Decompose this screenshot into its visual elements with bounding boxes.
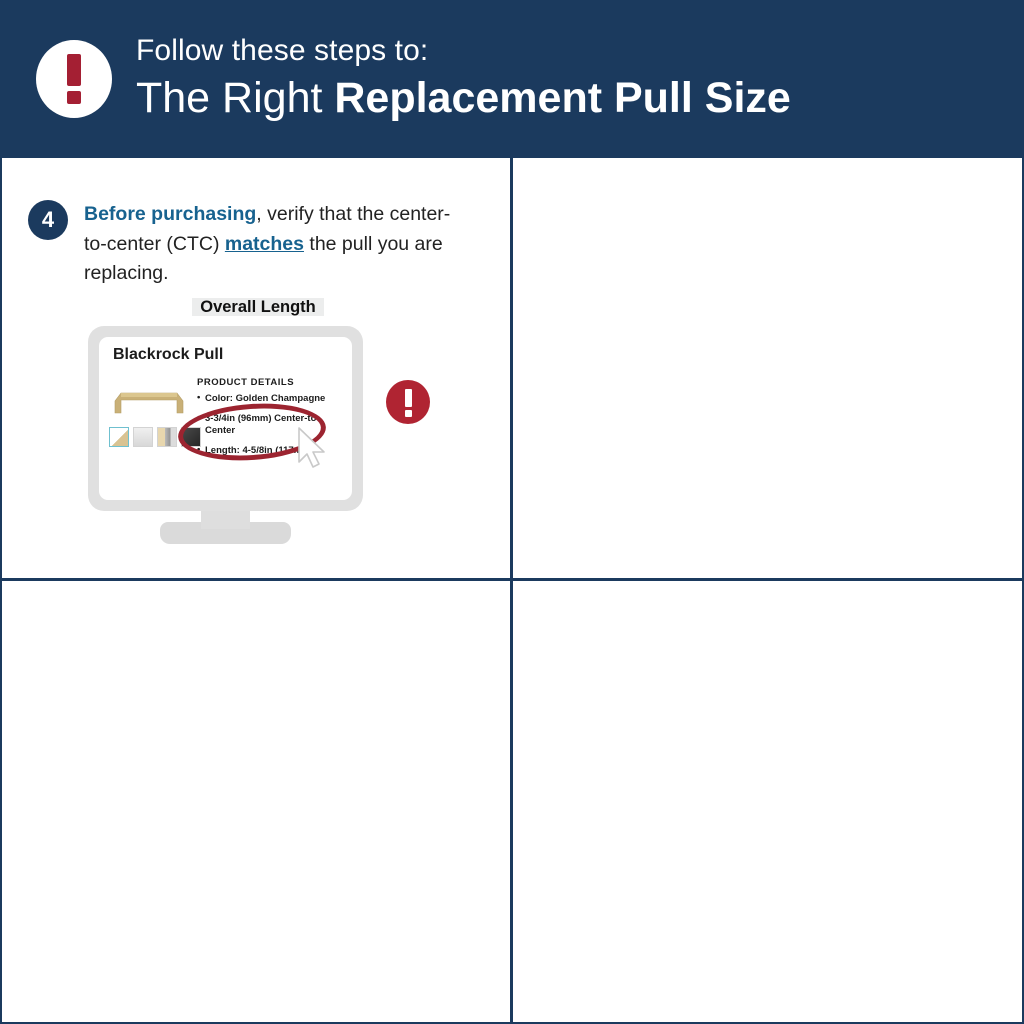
monitor-neck: [201, 509, 250, 529]
overall-length-label: Overall Length: [48, 298, 468, 317]
exclamation-icon: [36, 40, 112, 118]
step-panel-4: 4 Before purchasing, verify that the cen…: [0, 158, 512, 602]
product-title: Blackrock Pull: [113, 346, 223, 364]
thumbnail-3[interactable]: [157, 427, 177, 447]
steps-grid: 1 First, it’s important to understand ce…: [0, 158, 1024, 1024]
mouse-cursor-icon: [296, 426, 330, 470]
thumbnail-selected[interactable]: [109, 427, 129, 447]
monitor-illustration: Blackrock Pull PRODUCT: [88, 326, 363, 541]
page-header: Follow these steps to: The Right Replace…: [0, 0, 1024, 158]
step-4-number: 4: [28, 200, 68, 240]
golden-pull-icon: [111, 385, 187, 415]
product-image: [111, 379, 187, 421]
matches-link[interactable]: matches: [225, 233, 304, 255]
title-bold: Replacement Pull Size: [334, 74, 790, 122]
step-4-bold: Before purchasing: [84, 203, 256, 225]
header-eyebrow: Follow these steps to:: [136, 32, 791, 70]
page-title: The Right Replacement Pull Size: [136, 72, 791, 124]
border-left: [0, 158, 2, 1024]
vertical-divider: [510, 158, 513, 1024]
horizontal-divider: [0, 578, 1024, 581]
header-text: Follow these steps to: The Right Replace…: [136, 32, 791, 125]
step-4-copy: Before purchasing, verify that the cente…: [84, 200, 464, 289]
exclamation-badge-icon: [386, 380, 430, 424]
details-heading: PRODUCT DETAILS: [197, 377, 343, 388]
step-4-head: 4 Before purchasing, verify that the cen…: [28, 200, 464, 289]
thumbnail-2[interactable]: [133, 427, 153, 447]
title-light: The Right: [136, 74, 334, 122]
